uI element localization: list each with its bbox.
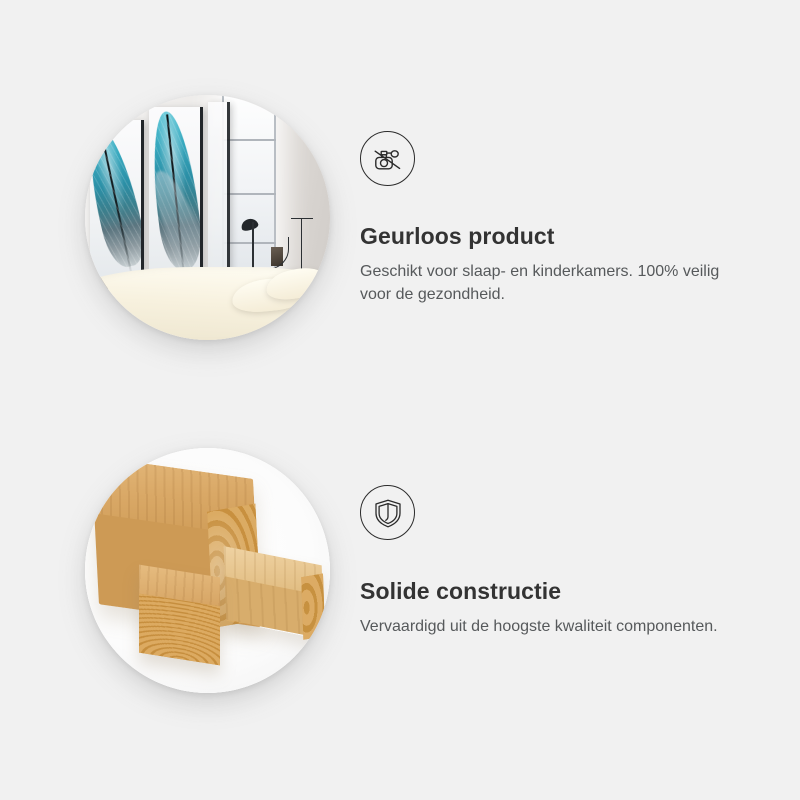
feather-art-panel-1 <box>90 120 144 282</box>
wooden-beam-front <box>139 564 220 665</box>
stacked-wooden-beams-image <box>85 448 330 693</box>
beam-end-grain <box>301 573 324 639</box>
shield-icon <box>360 485 415 540</box>
no-fragrance-perfume-bottle-icon <box>360 131 415 186</box>
beam-end-grain <box>139 593 220 665</box>
window-mullion-bar-1 <box>222 139 276 141</box>
teal-feather-1 <box>90 123 144 271</box>
feather-art-panel-2 <box>149 107 203 283</box>
feature-description: Vervaardigd uit de hoogste kwaliteit com… <box>360 615 748 638</box>
feature-title: Geurloos product <box>360 186 760 251</box>
feature-description: Geschikt voor slaap- en kinderkamers. 10… <box>360 260 748 306</box>
bedroom-with-teal-feather-wall-art-image <box>85 95 330 340</box>
feature-text-column: Solide constructie Vervaardigd uit de ho… <box>360 485 760 638</box>
wall-rod-vertical <box>301 218 303 272</box>
feature-block-geurloos-product: Geurloos product Geschikt voor slaap- en… <box>0 40 800 400</box>
feature-image-bedroom-wrapper <box>85 95 330 340</box>
feature-image-wood-wrapper <box>85 448 330 693</box>
feature-block-solide-constructie: Solide constructie Vervaardigd uit de ho… <box>0 393 800 753</box>
product-feature-page: Geurloos product Geschikt voor slaap- en… <box>0 0 800 800</box>
feature-text-column: Geurloos product Geschikt voor slaap- en… <box>360 131 760 306</box>
wood-scene <box>85 448 330 693</box>
feather-art-panel-3 <box>208 102 230 283</box>
window-mullion-bar-2 <box>222 193 276 195</box>
bedroom-scene <box>85 95 330 340</box>
feature-title: Solide constructie <box>360 540 760 606</box>
